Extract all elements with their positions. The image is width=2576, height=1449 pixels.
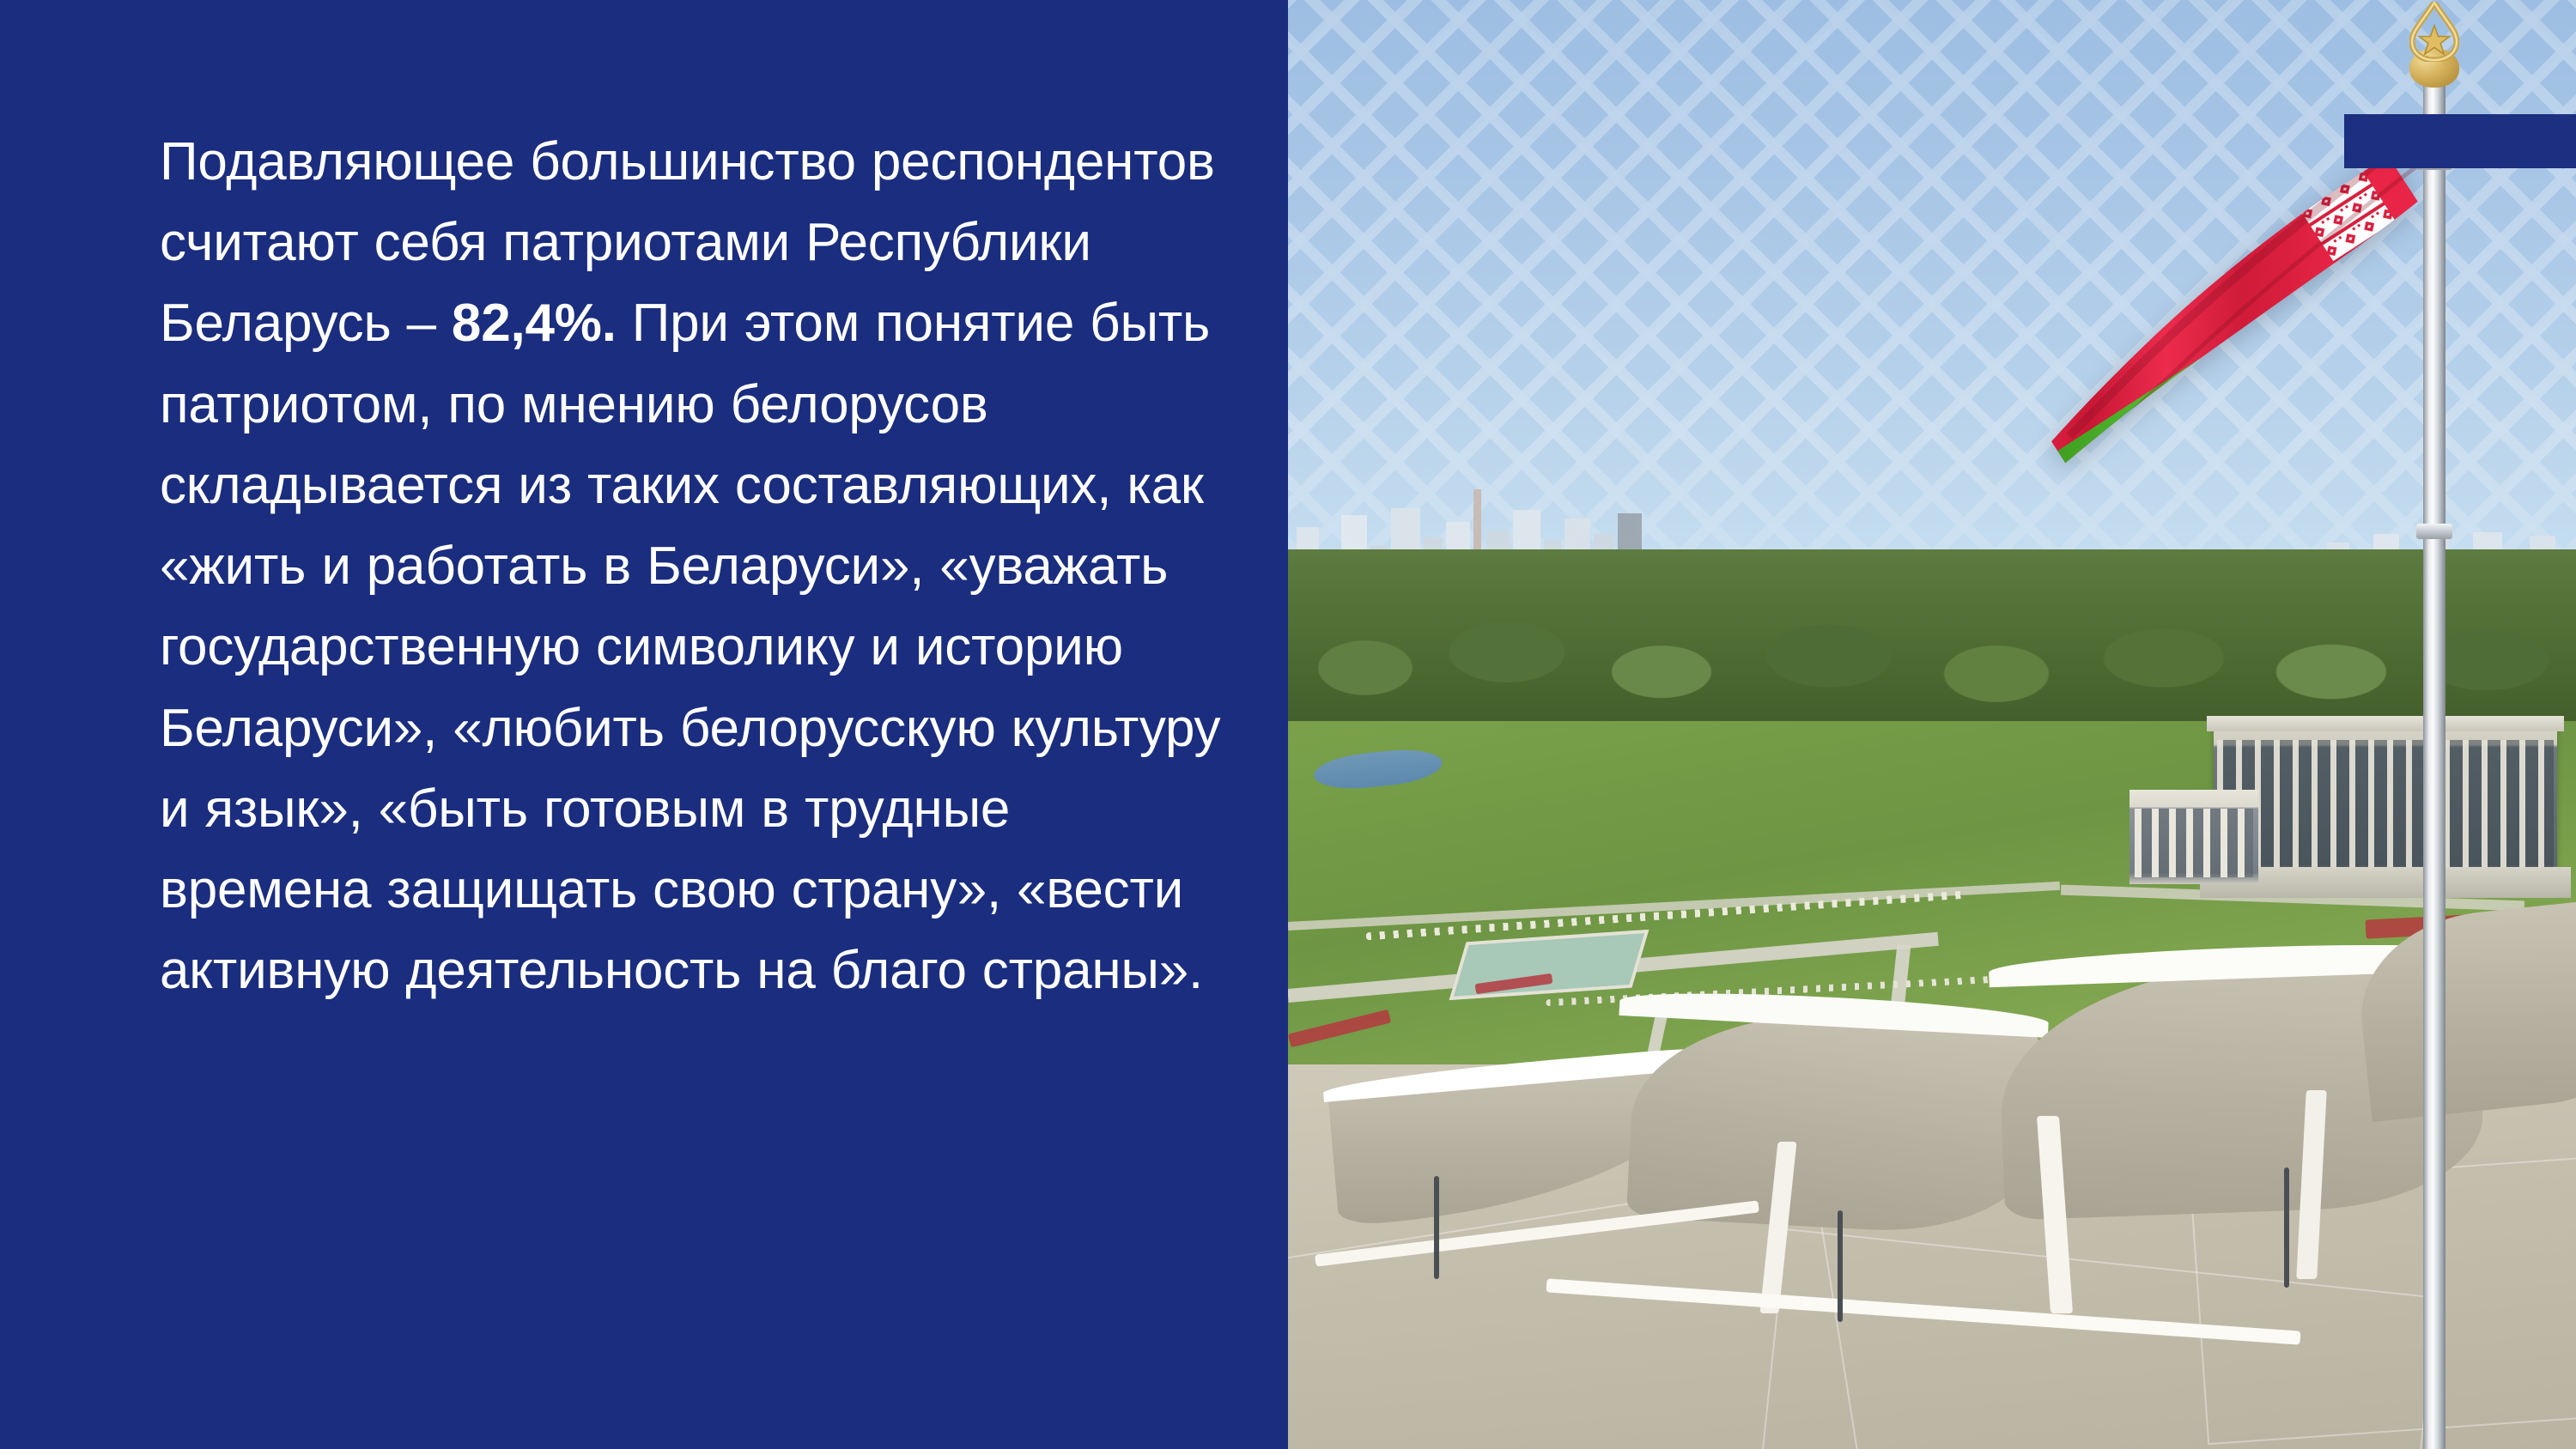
portico-columns: [2135, 809, 2253, 877]
text-panel: Подавляющее большинство респондентов счи…: [0, 0, 1288, 1449]
flagpole-finial-star-icon: [2409, 2, 2459, 62]
slide-body-text: Подавляющее большинство респондентов счи…: [160, 122, 1224, 1012]
accent-bar: [2344, 114, 2576, 168]
statistic-highlight: 82,4%.: [452, 294, 617, 353]
presentation-slide: Подавляющее большинство респондентов счи…: [0, 0, 2576, 1449]
body-text-part2: При этом понятие быть патриотом, по мнен…: [160, 294, 1220, 1000]
lamp-post: [2284, 1167, 2289, 1288]
palace-colonnade: [2217, 740, 2554, 867]
belarus-flag: [2006, 122, 2444, 491]
palace-roof: [2207, 716, 2564, 731]
flagpole: [2423, 74, 2445, 1449]
flagpole-collar: [2416, 524, 2452, 539]
lamp-post: [1838, 1210, 1843, 1322]
photo-belarus-flag: [1288, 0, 2576, 1449]
lamp-post: [1434, 1176, 1439, 1279]
